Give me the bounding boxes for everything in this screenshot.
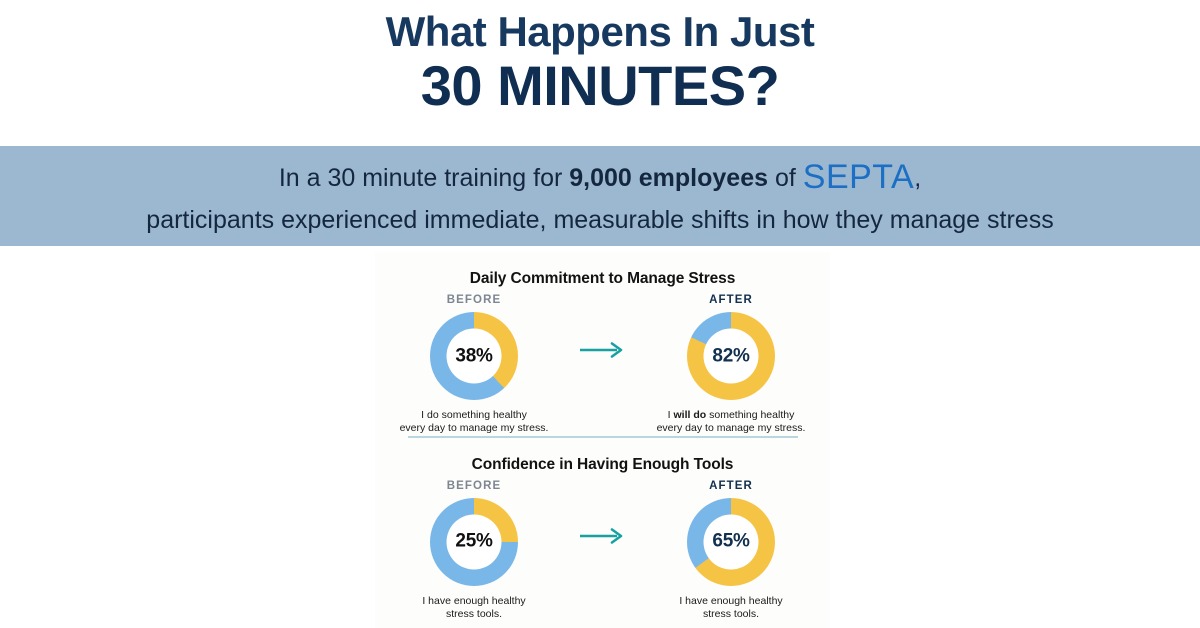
banner-text-pre: In a 30 minute training for <box>279 164 569 192</box>
caption-line2: every day to manage my stress. <box>400 422 549 434</box>
banner-line-1: In a 30 minute training for 9,000 employ… <box>279 153 921 201</box>
caption-line2: stress tools. <box>446 608 502 620</box>
caption-bold: will do <box>674 409 707 421</box>
caption-pre: I have enough healthy <box>422 595 525 607</box>
caption-line2: stress tools. <box>703 608 759 620</box>
section-title: Daily Commitment to Manage Stress <box>375 252 830 288</box>
stage-label-before: BEFORE <box>447 294 502 306</box>
donut-center: 38% <box>447 329 502 384</box>
banner-text-mid: of <box>768 164 803 192</box>
header: What Happens In Just 30 MINUTES? <box>0 0 1200 117</box>
stats-card: Daily Commitment to Manage Stress BEFORE… <box>375 252 830 628</box>
arrow-right-icon <box>579 528 627 544</box>
donut-chart-before: 25% <box>430 498 518 586</box>
donut-chart-after: 65% <box>687 498 775 586</box>
arrow-right-icon <box>579 342 627 358</box>
stat-before: BEFORE 25% I have enough healthy stress … <box>382 480 567 622</box>
section-title: Confidence in Having Enough Tools <box>375 438 830 474</box>
donut-value-label: 25% <box>455 531 492 553</box>
donut-caption: I do something healthy every day to mana… <box>400 409 549 436</box>
caption-line2: every day to manage my stress. <box>657 422 806 434</box>
before-after-pair: BEFORE 38% I do something healthy every … <box>375 294 830 436</box>
donut-chart-before: 38% <box>430 312 518 400</box>
transition-arrow-wrap <box>567 294 639 358</box>
caption-post: something healthy <box>706 409 794 421</box>
banner-brand-septa: SEPTA <box>803 158 914 196</box>
chart-section-confidence-tools: Confidence in Having Enough Tools BEFORE… <box>375 438 830 622</box>
donut-center: 65% <box>704 514 759 569</box>
donut-caption: I have enough healthy stress tools. <box>422 595 525 622</box>
caption-pre: I do something healthy <box>421 409 527 421</box>
headline-primary: What Happens In Just <box>0 10 1200 54</box>
donut-value-label: 65% <box>712 531 749 553</box>
banner-line-2: participants experienced immediate, meas… <box>146 203 1053 239</box>
chart-section-daily-commitment: Daily Commitment to Manage Stress BEFORE… <box>375 252 830 436</box>
stat-after: AFTER 65% I have enough healthy stress t… <box>639 480 824 622</box>
stat-after: AFTER 82% I will do something healthy ev… <box>639 294 824 436</box>
banner-employee-count: 9,000 employees <box>569 164 768 192</box>
summary-banner: In a 30 minute training for 9,000 employ… <box>0 146 1200 246</box>
donut-chart-after: 82% <box>687 312 775 400</box>
donut-center: 82% <box>704 329 759 384</box>
donut-value-label: 82% <box>712 345 749 367</box>
transition-arrow-wrap <box>567 480 639 544</box>
banner-text-post: , <box>914 164 921 192</box>
headline-secondary: 30 MINUTES? <box>0 56 1200 116</box>
donut-center: 25% <box>447 514 502 569</box>
donut-caption: I have enough healthy stress tools. <box>679 595 782 622</box>
donut-value-label: 38% <box>455 345 492 367</box>
donut-caption: I will do something healthy every day to… <box>657 409 806 436</box>
stat-before: BEFORE 38% I do something healthy every … <box>382 294 567 436</box>
stage-label-after: AFTER <box>709 480 753 492</box>
caption-pre: I have enough healthy <box>679 595 782 607</box>
stage-label-after: AFTER <box>709 294 753 306</box>
before-after-pair: BEFORE 25% I have enough healthy stress … <box>375 480 830 622</box>
stage-label-before: BEFORE <box>447 480 502 492</box>
